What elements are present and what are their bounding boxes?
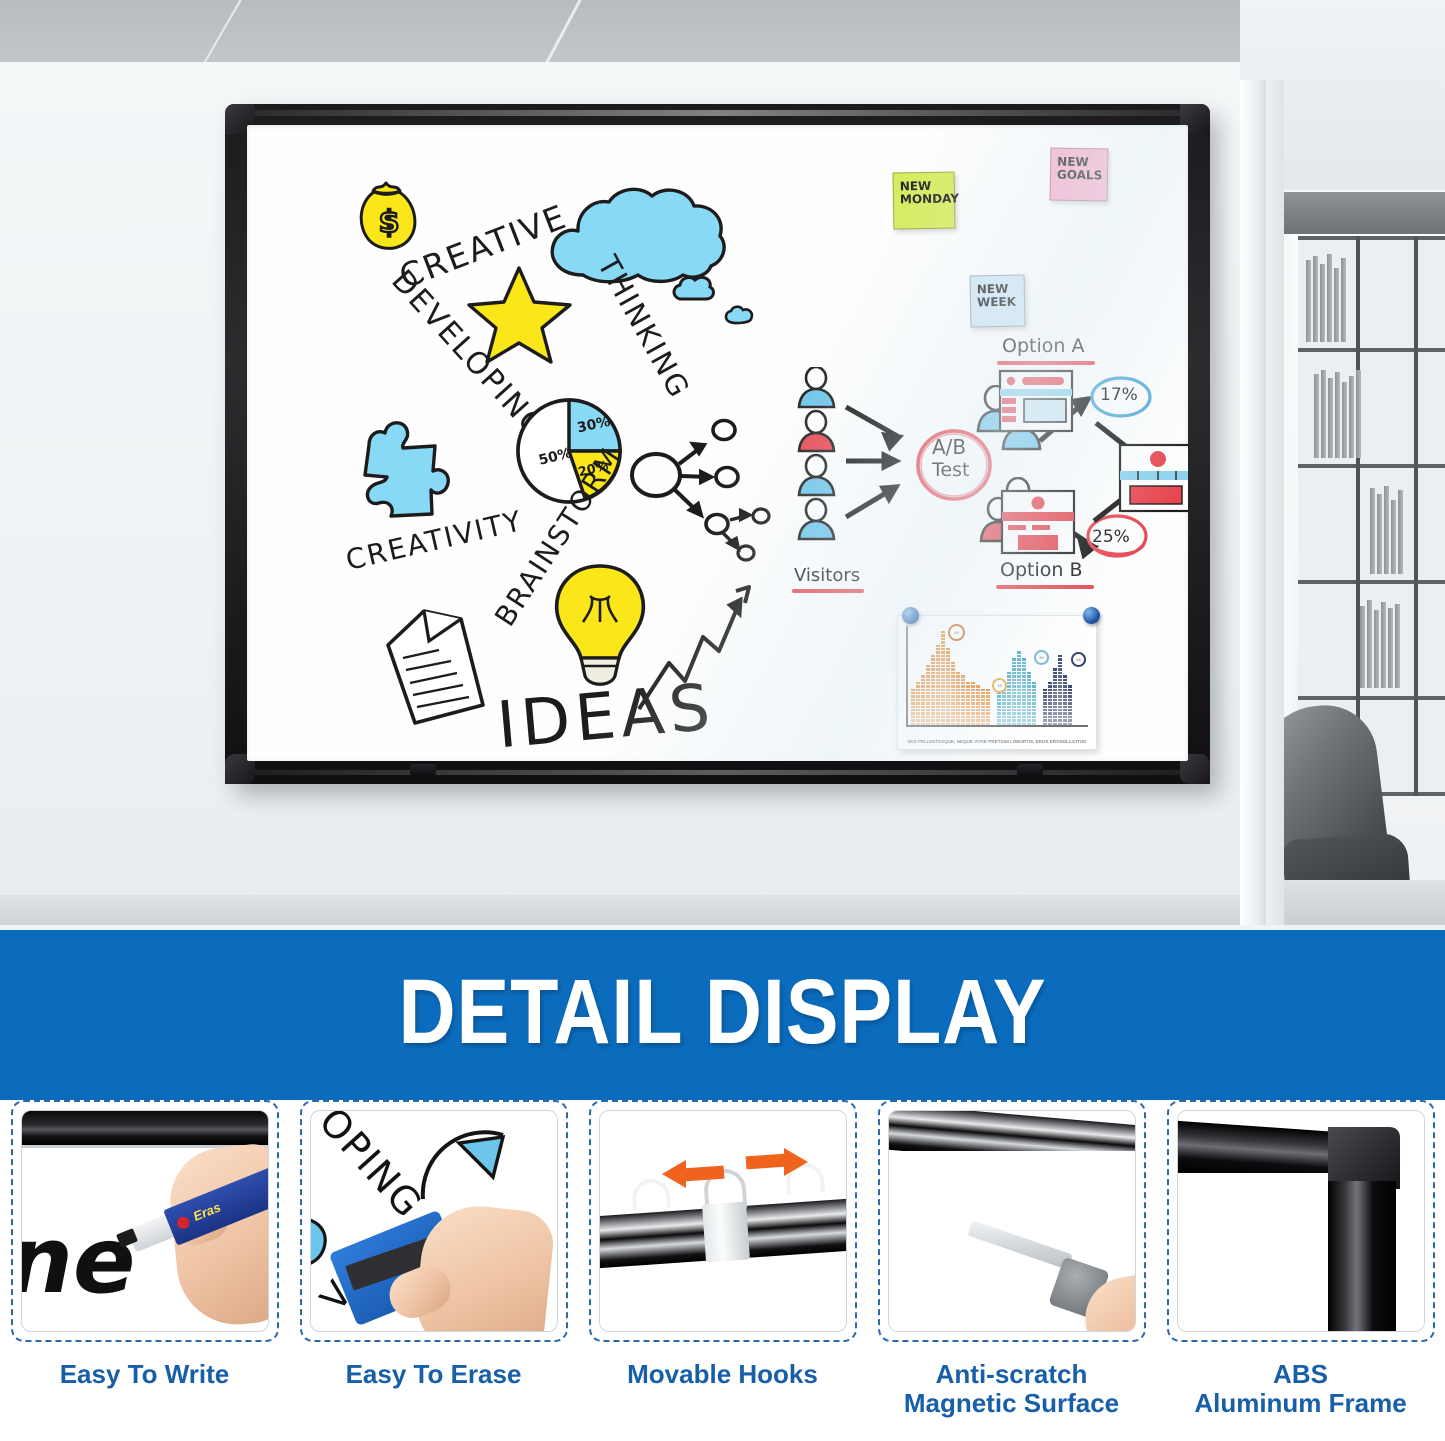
chart-bar — [971, 682, 975, 725]
option-b-label: Option B — [1000, 559, 1083, 581]
chart-card[interactable]: 69 16 56 55 SED PELLENTESQUE, NEQUE VITA… — [897, 615, 1097, 750]
sticky-note-week[interactable]: NEW WEEK — [970, 275, 1026, 328]
arrow-right-head — [784, 1148, 808, 1176]
marker-logo-icon — [175, 1215, 191, 1231]
option-b-underline — [996, 585, 1094, 589]
chart-bar — [1007, 672, 1011, 725]
option-b-page-mock — [1000, 489, 1076, 555]
movable-hook-icon[interactable] — [1017, 764, 1043, 776]
chart-bar — [931, 655, 935, 725]
ab-test-label-line2: Test — [932, 459, 969, 481]
chart-bar — [926, 665, 930, 725]
chart-bar — [986, 689, 990, 725]
ab-test-label-line1: A/B — [932, 435, 966, 459]
chart-bar — [916, 682, 920, 725]
winner-page-mock — [1118, 443, 1188, 513]
chart-bar — [956, 672, 960, 725]
feature-label: Anti-scratch Magnetic Surface — [904, 1360, 1119, 1418]
chart-bubble: 55 — [1071, 652, 1086, 667]
chart-bubble: 16 — [992, 678, 1007, 693]
hook-clip[interactable] — [702, 1202, 750, 1263]
option-a-rate: 17% — [1100, 385, 1138, 405]
chart-bar — [911, 689, 915, 725]
chart-bar — [946, 648, 950, 725]
product-scene: $ CREATIVE THINKING DEVELOPING — [0, 0, 1445, 925]
chart-bar — [941, 631, 945, 725]
detail-display-banner: DETAIL DISPLAY — [0, 925, 1445, 1100]
chart-bar — [1043, 689, 1047, 725]
money-bag-icon: $ — [353, 174, 427, 258]
chart-bubble: 56 — [1034, 650, 1049, 665]
arrow-right-icon — [745, 1154, 786, 1170]
puzzle-piece-icon — [351, 415, 467, 527]
option-a-page-mock — [998, 369, 1074, 433]
feature-image-frame: ne Eras — [11, 1100, 279, 1342]
frame-highlight — [239, 110, 1196, 116]
bar-chart: 69 16 56 55 — [906, 626, 1088, 727]
board-surface — [1177, 1173, 1328, 1332]
board-doodle-text: OPING — [310, 1110, 431, 1227]
chart-bar — [936, 645, 940, 725]
chart-bar — [1058, 655, 1062, 725]
chart-bar — [976, 685, 980, 725]
written-text: ne — [21, 1207, 136, 1314]
office-column — [1266, 80, 1284, 925]
feature-image — [599, 1110, 847, 1332]
sticky-line: MONDAY — [900, 193, 948, 207]
pie-chart-partial-icon — [415, 1129, 505, 1207]
feature-card-aluminum-frame[interactable]: ABS Aluminum Frame — [1156, 1100, 1445, 1441]
mindmap-icon — [629, 412, 777, 562]
chart-bar — [1068, 685, 1072, 725]
feature-label: ABS Aluminum Frame — [1194, 1360, 1406, 1418]
whiteboard-surface[interactable]: $ CREATIVE THINKING DEVELOPING — [247, 125, 1188, 761]
arrow-left-head — [662, 1160, 686, 1188]
feature-card-easy-to-erase[interactable]: OPING VIT Easy To Erase — [289, 1100, 578, 1441]
chart-x-axis — [906, 725, 1088, 727]
document-icon — [379, 605, 493, 729]
feature-image-frame — [589, 1100, 857, 1342]
option-b-rate: 25% — [1092, 527, 1130, 547]
feature-label: Easy To Write — [60, 1360, 230, 1389]
feature-image — [888, 1110, 1136, 1332]
arrow-left-icon — [683, 1166, 724, 1182]
chart-bar — [961, 675, 965, 725]
chart-bar — [997, 692, 1001, 725]
sticky-line: GOALS — [1057, 169, 1101, 183]
chart-bar — [966, 682, 970, 725]
sticky-note-monday[interactable]: NEW MONDAY — [893, 171, 956, 229]
cloud-small-icon — [670, 273, 718, 307]
movable-hook-icon[interactable] — [410, 764, 436, 776]
frame-corner-icon — [1328, 1127, 1400, 1189]
visitor-avatars — [792, 367, 852, 557]
feature-image: OPING VIT — [310, 1110, 558, 1332]
frame-highlight — [239, 770, 1196, 775]
office-column — [1240, 80, 1266, 925]
feature-card-easy-to-write[interactable]: ne Eras Easy To Write — [0, 1100, 289, 1441]
office-background — [1240, 0, 1445, 925]
sticky-line: WEEK — [977, 296, 1018, 310]
option-a-label: Option A — [1002, 335, 1084, 357]
ceiling-tile-line — [200, 0, 242, 69]
magnet-icon[interactable] — [1083, 607, 1100, 624]
option-a-underline — [997, 361, 1095, 365]
whiteboard: $ CREATIVE THINKING DEVELOPING — [225, 104, 1210, 784]
svg-text:$: $ — [379, 205, 400, 240]
chart-bubble: 69 — [948, 624, 965, 641]
feature-image-frame — [878, 1100, 1146, 1342]
feature-card-magnetic-surface[interactable]: Anti-scratch Magnetic Surface — [867, 1100, 1156, 1441]
feature-cards: ne Eras Easy To Write OPING VIT — [0, 1100, 1445, 1441]
magnet-icon[interactable] — [902, 607, 919, 624]
chart-bar — [921, 675, 925, 725]
ab-test-diagram: Visitors A/B Test — [792, 347, 1182, 607]
chart-bar — [1017, 651, 1021, 725]
cloud-tiny-icon — [723, 305, 755, 327]
feature-label-line1: ABS — [1194, 1360, 1406, 1389]
feature-label: Easy To Erase — [346, 1360, 522, 1389]
wall-skirting — [0, 895, 1250, 925]
feature-label-line2: Magnetic Surface — [904, 1389, 1119, 1418]
feature-label-line1: Anti-scratch — [904, 1360, 1119, 1389]
ceiling — [0, 0, 1240, 62]
feature-image-frame: OPING VIT — [300, 1100, 568, 1342]
chart-bar — [981, 689, 985, 725]
feature-label: Movable Hooks — [627, 1360, 818, 1389]
sticky-note-goals[interactable]: NEW GOALS — [1050, 147, 1109, 201]
banner-title: DETAIL DISPLAY — [101, 925, 1344, 1100]
chart-bar — [1022, 658, 1026, 725]
feature-image: ne Eras — [21, 1110, 269, 1332]
chart-bar — [1063, 675, 1067, 725]
doodle-word-ideas: IDEAS — [494, 671, 718, 761]
feature-image-frame — [1167, 1100, 1435, 1342]
chart-bar — [1027, 672, 1031, 725]
chart-bar — [951, 662, 955, 725]
visitors-underline — [792, 589, 864, 593]
chart-bar — [1048, 682, 1052, 725]
marker-brand-label: Eras — [191, 1199, 223, 1223]
feature-image — [1177, 1110, 1425, 1332]
chart-caption: SED PELLENTESQUE, NEQUE VITAE PRETIUM LO… — [902, 739, 1092, 744]
feature-label-line2: Aluminum Frame — [1194, 1389, 1406, 1418]
feature-card-movable-hooks[interactable]: Movable Hooks — [578, 1100, 867, 1441]
chart-y-axis — [906, 626, 908, 727]
chart-bar — [1053, 668, 1057, 725]
frame-side-rail — [1328, 1181, 1396, 1332]
visitors-label: Visitors — [794, 565, 860, 586]
chart-bar — [1032, 682, 1036, 725]
board-rail — [21, 1111, 269, 1145]
chart-bar — [1012, 658, 1016, 725]
